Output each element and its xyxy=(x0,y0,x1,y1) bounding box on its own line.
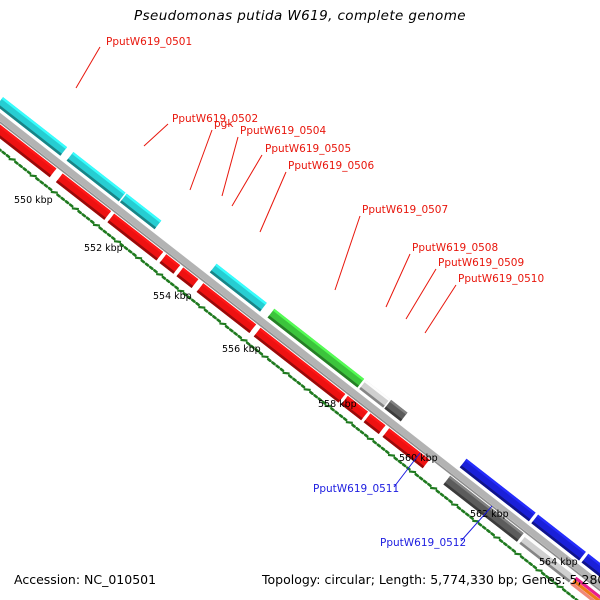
axis-tick-label: 554 kbp xyxy=(153,291,192,302)
axis-tick-label: 558 kbp xyxy=(318,399,357,410)
gene-label[interactable]: PputW619_0501 xyxy=(106,36,192,48)
gene-label[interactable]: PputW619_0507 xyxy=(362,204,448,216)
genome-map-canvas[interactable]: Pseudomonas putida W619, complete genome… xyxy=(0,0,600,600)
page-title: Pseudomonas putida W619, complete genome xyxy=(134,8,466,24)
callout-pgk[interactable]: pgk xyxy=(190,118,234,190)
gene-label[interactable]: PputW619_0512 xyxy=(380,537,466,549)
gene-label[interactable]: PputW619_0508 xyxy=(412,242,498,254)
callout-PputW619_0510[interactable]: PputW619_0510 xyxy=(425,273,544,333)
callout-PputW619_0506[interactable]: PputW619_0506 xyxy=(260,160,374,232)
gene-label[interactable]: pgk xyxy=(214,118,234,130)
gene-label[interactable]: PputW619_0511 xyxy=(313,483,399,495)
axis-tick-label: 564 kbp xyxy=(539,557,578,568)
gene-label[interactable]: PputW619_0509 xyxy=(438,257,524,269)
genome-viewer: Pseudomonas putida W619, complete genome… xyxy=(0,0,600,600)
axis-tick-label: 556 kbp xyxy=(222,344,261,355)
axis-tick-label: 552 kbp xyxy=(84,243,123,254)
gene-label[interactable]: PputW619_0506 xyxy=(288,160,374,172)
axis-tick-label: 550 kbp xyxy=(14,195,53,206)
gene-label[interactable]: PputW619_0505 xyxy=(265,143,351,155)
gene-label[interactable]: PputW619_0504 xyxy=(240,125,326,137)
accession-label: Accession: NC_010501 xyxy=(14,572,156,587)
axis-tick-label: 562 kbp xyxy=(470,509,509,520)
genome-stats-label: Topology: circular; Length: 5,774,330 bp… xyxy=(261,572,600,587)
gene-label[interactable]: PputW619_0510 xyxy=(458,273,544,285)
callout-PputW619_0509[interactable]: PputW619_0509 xyxy=(406,257,524,319)
callout-PputW619_0501[interactable]: PputW619_0501 xyxy=(76,36,192,88)
callout-PputW619_0505[interactable]: PputW619_0505 xyxy=(232,143,351,206)
